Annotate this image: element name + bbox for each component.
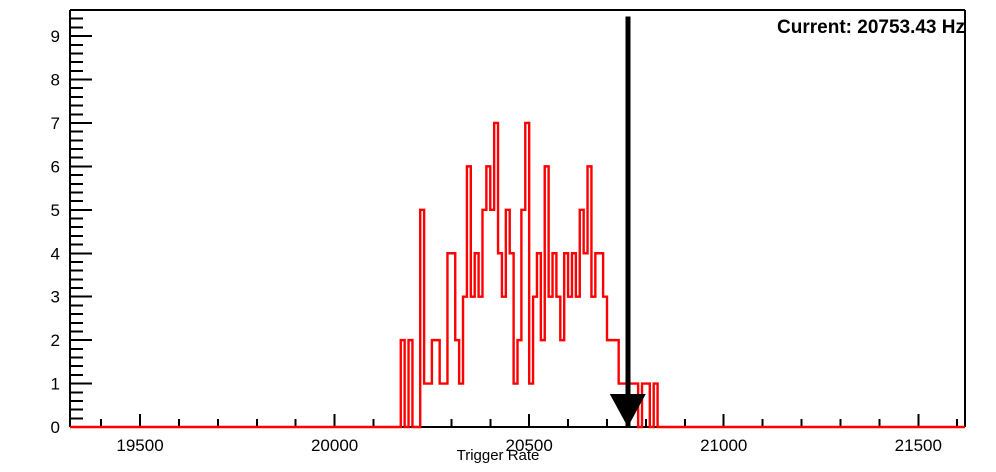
histogram-series (70, 123, 965, 427)
y-tick-label: 4 (51, 244, 60, 263)
y-tick-label: 2 (51, 331, 60, 350)
y-tick-label: 9 (51, 27, 60, 46)
y-tick-label: 7 (51, 114, 60, 133)
chart-canvas: 0123456789 1950020000205002100021500 Tri… (0, 0, 996, 472)
y-tick-label: 0 (51, 418, 60, 437)
x-axis-title: Trigger Rate (0, 447, 996, 464)
y-tick-label: 3 (51, 288, 60, 307)
trigger-rate-histogram[interactable]: 0123456789 1950020000205002100021500 (0, 0, 996, 472)
histogram-outline (70, 123, 965, 427)
marker-arrowhead (610, 394, 646, 427)
y-axis-ticks (70, 10, 92, 427)
y-tick-label: 6 (51, 157, 60, 176)
y-axis-tick-labels: 0123456789 (51, 27, 60, 437)
current-value-label: Current: 20753.43 Hz (777, 17, 965, 39)
current-marker-arrow (610, 17, 646, 427)
y-tick-label: 8 (51, 71, 60, 90)
y-tick-label: 5 (51, 201, 60, 220)
x-axis-ticks (101, 414, 957, 427)
y-tick-label: 1 (51, 375, 60, 394)
